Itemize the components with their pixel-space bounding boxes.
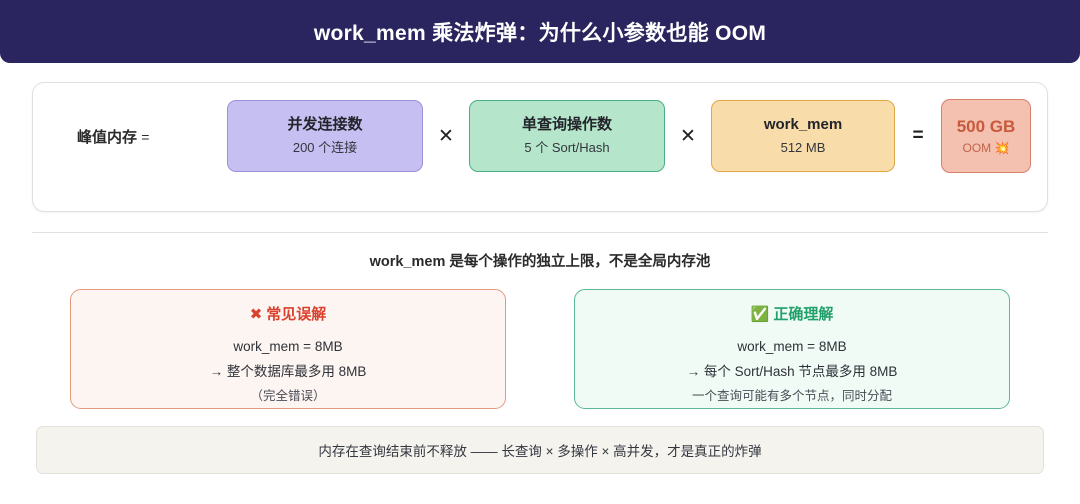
header-bar: work_mem 乘法炸弹：为什么小参数也能 OOM [0,0,1080,63]
comparison-row: ✖常见误解 work_mem = 8MB → 整个数据库最多用 8MB （完全错… [70,289,1010,409]
peak-memory-text: 峰值内存 [77,129,137,146]
correct-line-1: work_mem = 8MB [585,335,999,360]
misconception-line-2: → 整个数据库最多用 8MB [81,360,495,385]
peak-memory-label: 峰值内存 = [47,126,227,147]
misconception-card: ✖常见误解 work_mem = 8MB → 整个数据库最多用 8MB （完全错… [70,289,506,409]
misconception-note: （完全错误） [81,385,495,408]
term-operations-per-query: 单查询操作数 5 个 Sort/Hash [469,100,665,172]
term-work-mem: work_mem 512 MB [711,100,895,172]
section-divider [32,232,1048,233]
misconception-title: ✖常见误解 [81,303,495,324]
term-subtitle: 200 个连接 [293,140,357,156]
cross-mark-icon: ✖ [250,306,263,323]
term-title: 并发连接数 [287,116,362,135]
check-mark-icon: ✅ [751,306,770,323]
misconception-title-text: 常见误解 [266,306,326,323]
footer-bar: 内存在查询结束前不释放 —— 长查询 × 多操作 × 高并发，才是真正的炸弹 [36,426,1044,474]
correct-understanding-card: ✅正确理解 work_mem = 8MB → 每个 Sort/Hash 节点最多… [574,289,1010,409]
correct-line-2: → 每个 Sort/Hash 节点最多用 8MB [585,360,999,385]
term-title: 单查询操作数 [522,116,612,135]
section-heading: work_mem 是每个操作的独立上限，不是全局内存池 [0,250,1080,271]
result-value: 500 GB [957,117,1016,137]
correct-title-text: 正确理解 [773,306,833,323]
page-title: work_mem 乘法炸弹：为什么小参数也能 OOM [314,17,766,47]
result-oom-box: 500 GB OOM 💥 [941,99,1031,173]
correct-title: ✅正确理解 [585,303,999,324]
footer-text: 内存在查询结束前不释放 —— 长查询 × 多操作 × 高并发，才是真正的炸弹 [318,440,761,460]
equals-operator: = [895,125,941,147]
term-subtitle: 5 个 Sort/Hash [524,140,609,156]
term-concurrent-connections: 并发连接数 200 个连接 [227,100,423,172]
formula-card: 峰值内存 = 并发连接数 200 个连接 ✕ 单查询操作数 5 个 Sort/H… [32,82,1048,212]
term-subtitle: 512 MB [781,140,826,156]
result-oom-label: OOM 💥 [963,141,1010,155]
misconception-line-1: work_mem = 8MB [81,335,495,360]
multiply-operator-1: ✕ [423,125,469,148]
peak-memory-equals: = [141,129,149,145]
multiply-operator-2: ✕ [665,125,711,148]
correct-note: 一个查询可能有多个节点，同时分配 [585,385,999,408]
term-title: work_mem [764,116,842,135]
